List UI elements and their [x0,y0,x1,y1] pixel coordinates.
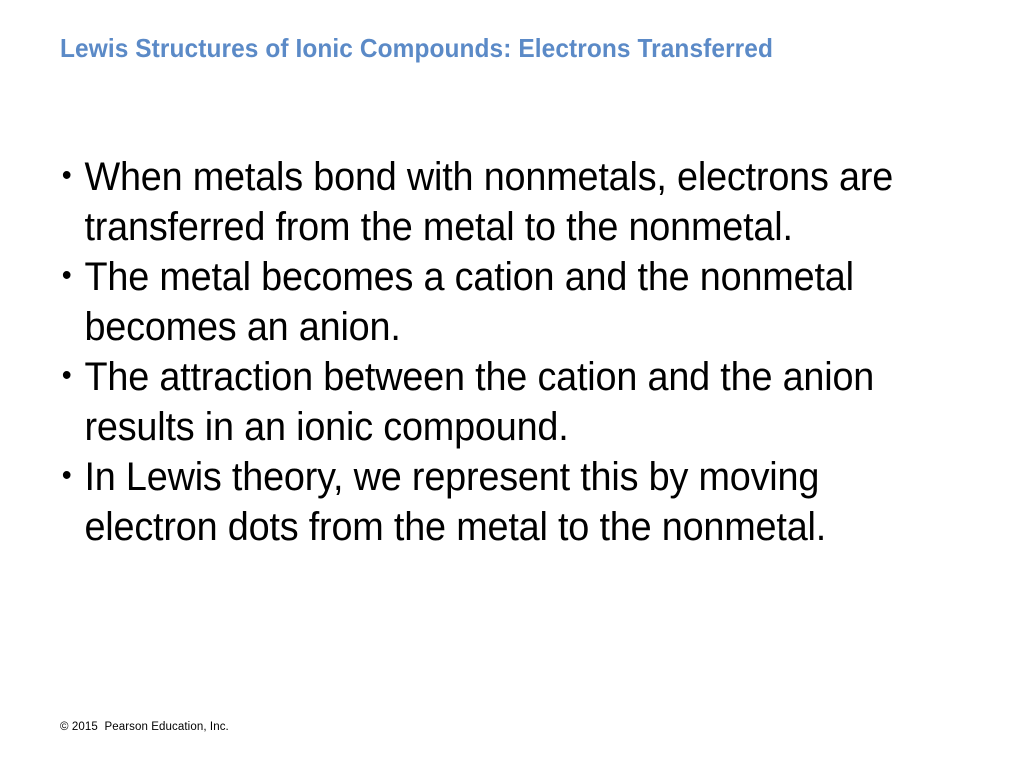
bullet-list: • When metals bond with nonmetals, elect… [58,152,968,552]
bullet-point-icon: • [62,452,81,502]
bullet-point-icon: • [62,252,81,302]
bullet-point-icon: • [62,352,81,402]
list-item: • In Lewis theory, we represent this by … [58,452,918,552]
list-item-text: The attraction between the cation and th… [84,352,917,452]
list-item: • When metals bond with nonmetals, elect… [58,152,918,252]
list-item-text: When metals bond with nonmetals, electro… [84,152,917,252]
list-item-text: The metal becomes a cation and the nonme… [84,252,917,352]
list-item-text: In Lewis theory, we represent this by mo… [84,452,917,552]
slide-canvas: Lewis Structures of Ionic Compounds: Ele… [0,0,1024,768]
page-title: Lewis Structures of Ionic Compounds: Ele… [60,31,840,65]
list-item: • The attraction between the cation and … [58,352,918,452]
copyright-notice: © 2015 Pearson Education, Inc. [60,720,229,735]
bullet-point-icon: • [62,152,81,202]
list-item: • The metal becomes a cation and the non… [58,252,918,352]
